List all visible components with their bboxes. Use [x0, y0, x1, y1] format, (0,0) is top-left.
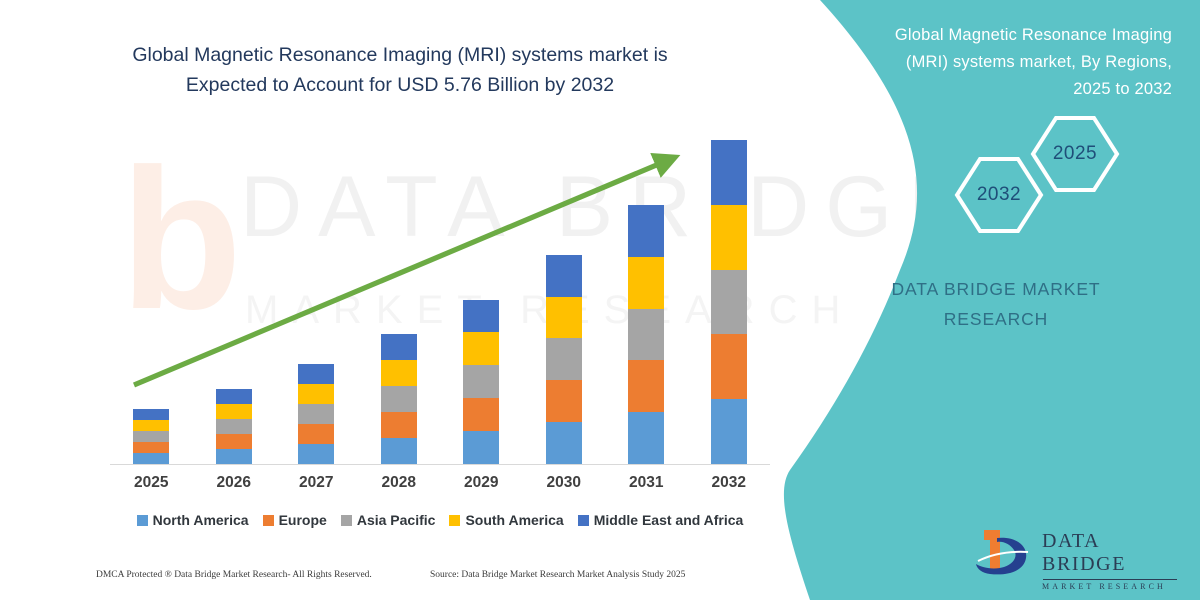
bar-segment: [381, 334, 417, 360]
bar-segment: [463, 431, 499, 464]
hexagon-end-year-label: 2032: [977, 184, 1021, 206]
stacked-bar-chart: [110, 140, 770, 465]
hexagon-badge-end-year: 2032: [953, 155, 1045, 235]
bar-segment: [628, 309, 664, 361]
legend-label: Europe: [279, 512, 327, 528]
bar-segment: [216, 389, 252, 404]
bar-segment: [216, 419, 252, 434]
bar-segment: [133, 420, 169, 431]
bar-column: [110, 140, 193, 464]
legend-swatch: [578, 515, 589, 526]
brand-line-1: DATA BRIDGE MARKET: [820, 274, 1172, 304]
legend-label: Asia Pacific: [357, 512, 436, 528]
legend-item[interactable]: Middle East and Africa: [578, 512, 744, 528]
stacked-bar: [298, 364, 334, 464]
bar-segment: [711, 140, 747, 205]
x-axis-tick-label: 2027: [275, 474, 358, 492]
bar-segment: [546, 338, 582, 380]
side-panel-title-line-3: 2025 to 2032: [820, 76, 1172, 103]
x-axis-tick-label: 2025: [110, 474, 193, 492]
bridge-mark-icon: [970, 524, 1040, 580]
bar-segment: [381, 438, 417, 464]
stacked-bar: [628, 205, 664, 464]
bar-segment: [216, 404, 252, 419]
page-title: Global Magnetic Resonance Imaging (MRI) …: [0, 40, 800, 100]
bar-segment: [133, 453, 169, 464]
legend-swatch: [263, 515, 274, 526]
bar-segment: [711, 270, 747, 335]
stacked-bar: [546, 255, 582, 464]
logo-text: DATA BRIDGE MARKET RESEARCH: [1042, 530, 1182, 591]
headline-line-1: Global Magnetic Resonance Imaging (MRI) …: [0, 40, 800, 70]
bar-segment: [216, 449, 252, 464]
legend-item[interactable]: South America: [449, 512, 563, 528]
legend-item[interactable]: Asia Pacific: [341, 512, 436, 528]
bar-segment: [628, 360, 664, 412]
footer-source: Source: Data Bridge Market Research Mark…: [430, 570, 685, 580]
hexagon-start-year-label: 2025: [1053, 143, 1097, 165]
x-axis-line: [110, 464, 770, 465]
bar-segment: [463, 332, 499, 365]
bar-segment: [133, 431, 169, 442]
x-axis-tick-label: 2031: [605, 474, 688, 492]
legend-label: South America: [465, 512, 563, 528]
bar-segment: [628, 257, 664, 309]
stacked-bar: [711, 140, 747, 464]
legend-label: Middle East and Africa: [594, 512, 744, 528]
bar-segment: [546, 422, 582, 464]
bar-segment: [711, 334, 747, 399]
side-panel-title: Global Magnetic Resonance Imaging (MRI) …: [820, 22, 1172, 103]
x-axis-labels: 20252026202720282029203020312032: [110, 474, 770, 492]
bar-segment: [546, 380, 582, 422]
bar-segment: [711, 205, 747, 270]
bar-column: [440, 140, 523, 464]
headline-line-2: Expected to Account for USD 5.76 Billion…: [0, 70, 800, 100]
bar-column: [688, 140, 771, 464]
logo-name: DATA BRIDGE: [1042, 530, 1182, 576]
bar-segment: [546, 255, 582, 297]
x-axis-tick-label: 2028: [358, 474, 441, 492]
bar-segment: [298, 384, 334, 404]
bar-segment: [381, 360, 417, 386]
company-logo: DATA BRIDGE MARKET RESEARCH: [970, 524, 1182, 582]
logo-tagline: MARKET RESEARCH: [1042, 582, 1182, 591]
brand-line-2: RESEARCH: [820, 304, 1172, 334]
side-panel-title-line-2: (MRI) systems market, By Regions,: [820, 49, 1172, 76]
footer-copyright: DMCA Protected ® Data Bridge Market Rese…: [96, 570, 372, 580]
x-axis-tick-label: 2030: [523, 474, 606, 492]
legend-swatch: [449, 515, 460, 526]
bar-segment: [463, 300, 499, 333]
bar-segment: [298, 424, 334, 444]
x-axis-tick-label: 2032: [688, 474, 771, 492]
legend-swatch: [137, 515, 148, 526]
bar-column: [275, 140, 358, 464]
bar-segment: [298, 364, 334, 384]
bar-segment: [711, 399, 747, 464]
legend-swatch: [341, 515, 352, 526]
stacked-bar: [381, 334, 417, 464]
bar-segment: [628, 412, 664, 464]
bar-segment: [298, 404, 334, 424]
legend-item[interactable]: Europe: [263, 512, 327, 528]
stacked-bar: [463, 300, 499, 464]
bar-column: [193, 140, 276, 464]
bar-column: [605, 140, 688, 464]
bar-segment: [463, 398, 499, 431]
legend-item[interactable]: North America: [137, 512, 249, 528]
bar-column: [358, 140, 441, 464]
chart-legend: North AmericaEuropeAsia PacificSouth Ame…: [110, 512, 770, 528]
side-panel-brand: DATA BRIDGE MARKET RESEARCH: [820, 274, 1172, 334]
bar-column: [523, 140, 606, 464]
logo-divider: [1043, 579, 1177, 580]
x-axis-tick-label: 2026: [193, 474, 276, 492]
bar-segment: [463, 365, 499, 398]
x-axis-tick-label: 2029: [440, 474, 523, 492]
bar-segment: [381, 386, 417, 412]
stacked-bar: [133, 409, 169, 464]
bar-segment: [216, 434, 252, 449]
legend-label: North America: [153, 512, 249, 528]
bar-segment: [628, 205, 664, 257]
side-panel-title-line-1: Global Magnetic Resonance Imaging: [820, 22, 1172, 49]
bar-segment: [133, 409, 169, 420]
bar-segment: [298, 444, 334, 464]
stacked-bar: [216, 389, 252, 464]
bar-segment: [133, 442, 169, 453]
chart-bars: [110, 140, 770, 464]
infographic-canvas: b DATA BRIDGE MARKET RESEARCH Global Mag…: [0, 0, 1200, 600]
bar-segment: [546, 297, 582, 339]
bar-segment: [381, 412, 417, 438]
